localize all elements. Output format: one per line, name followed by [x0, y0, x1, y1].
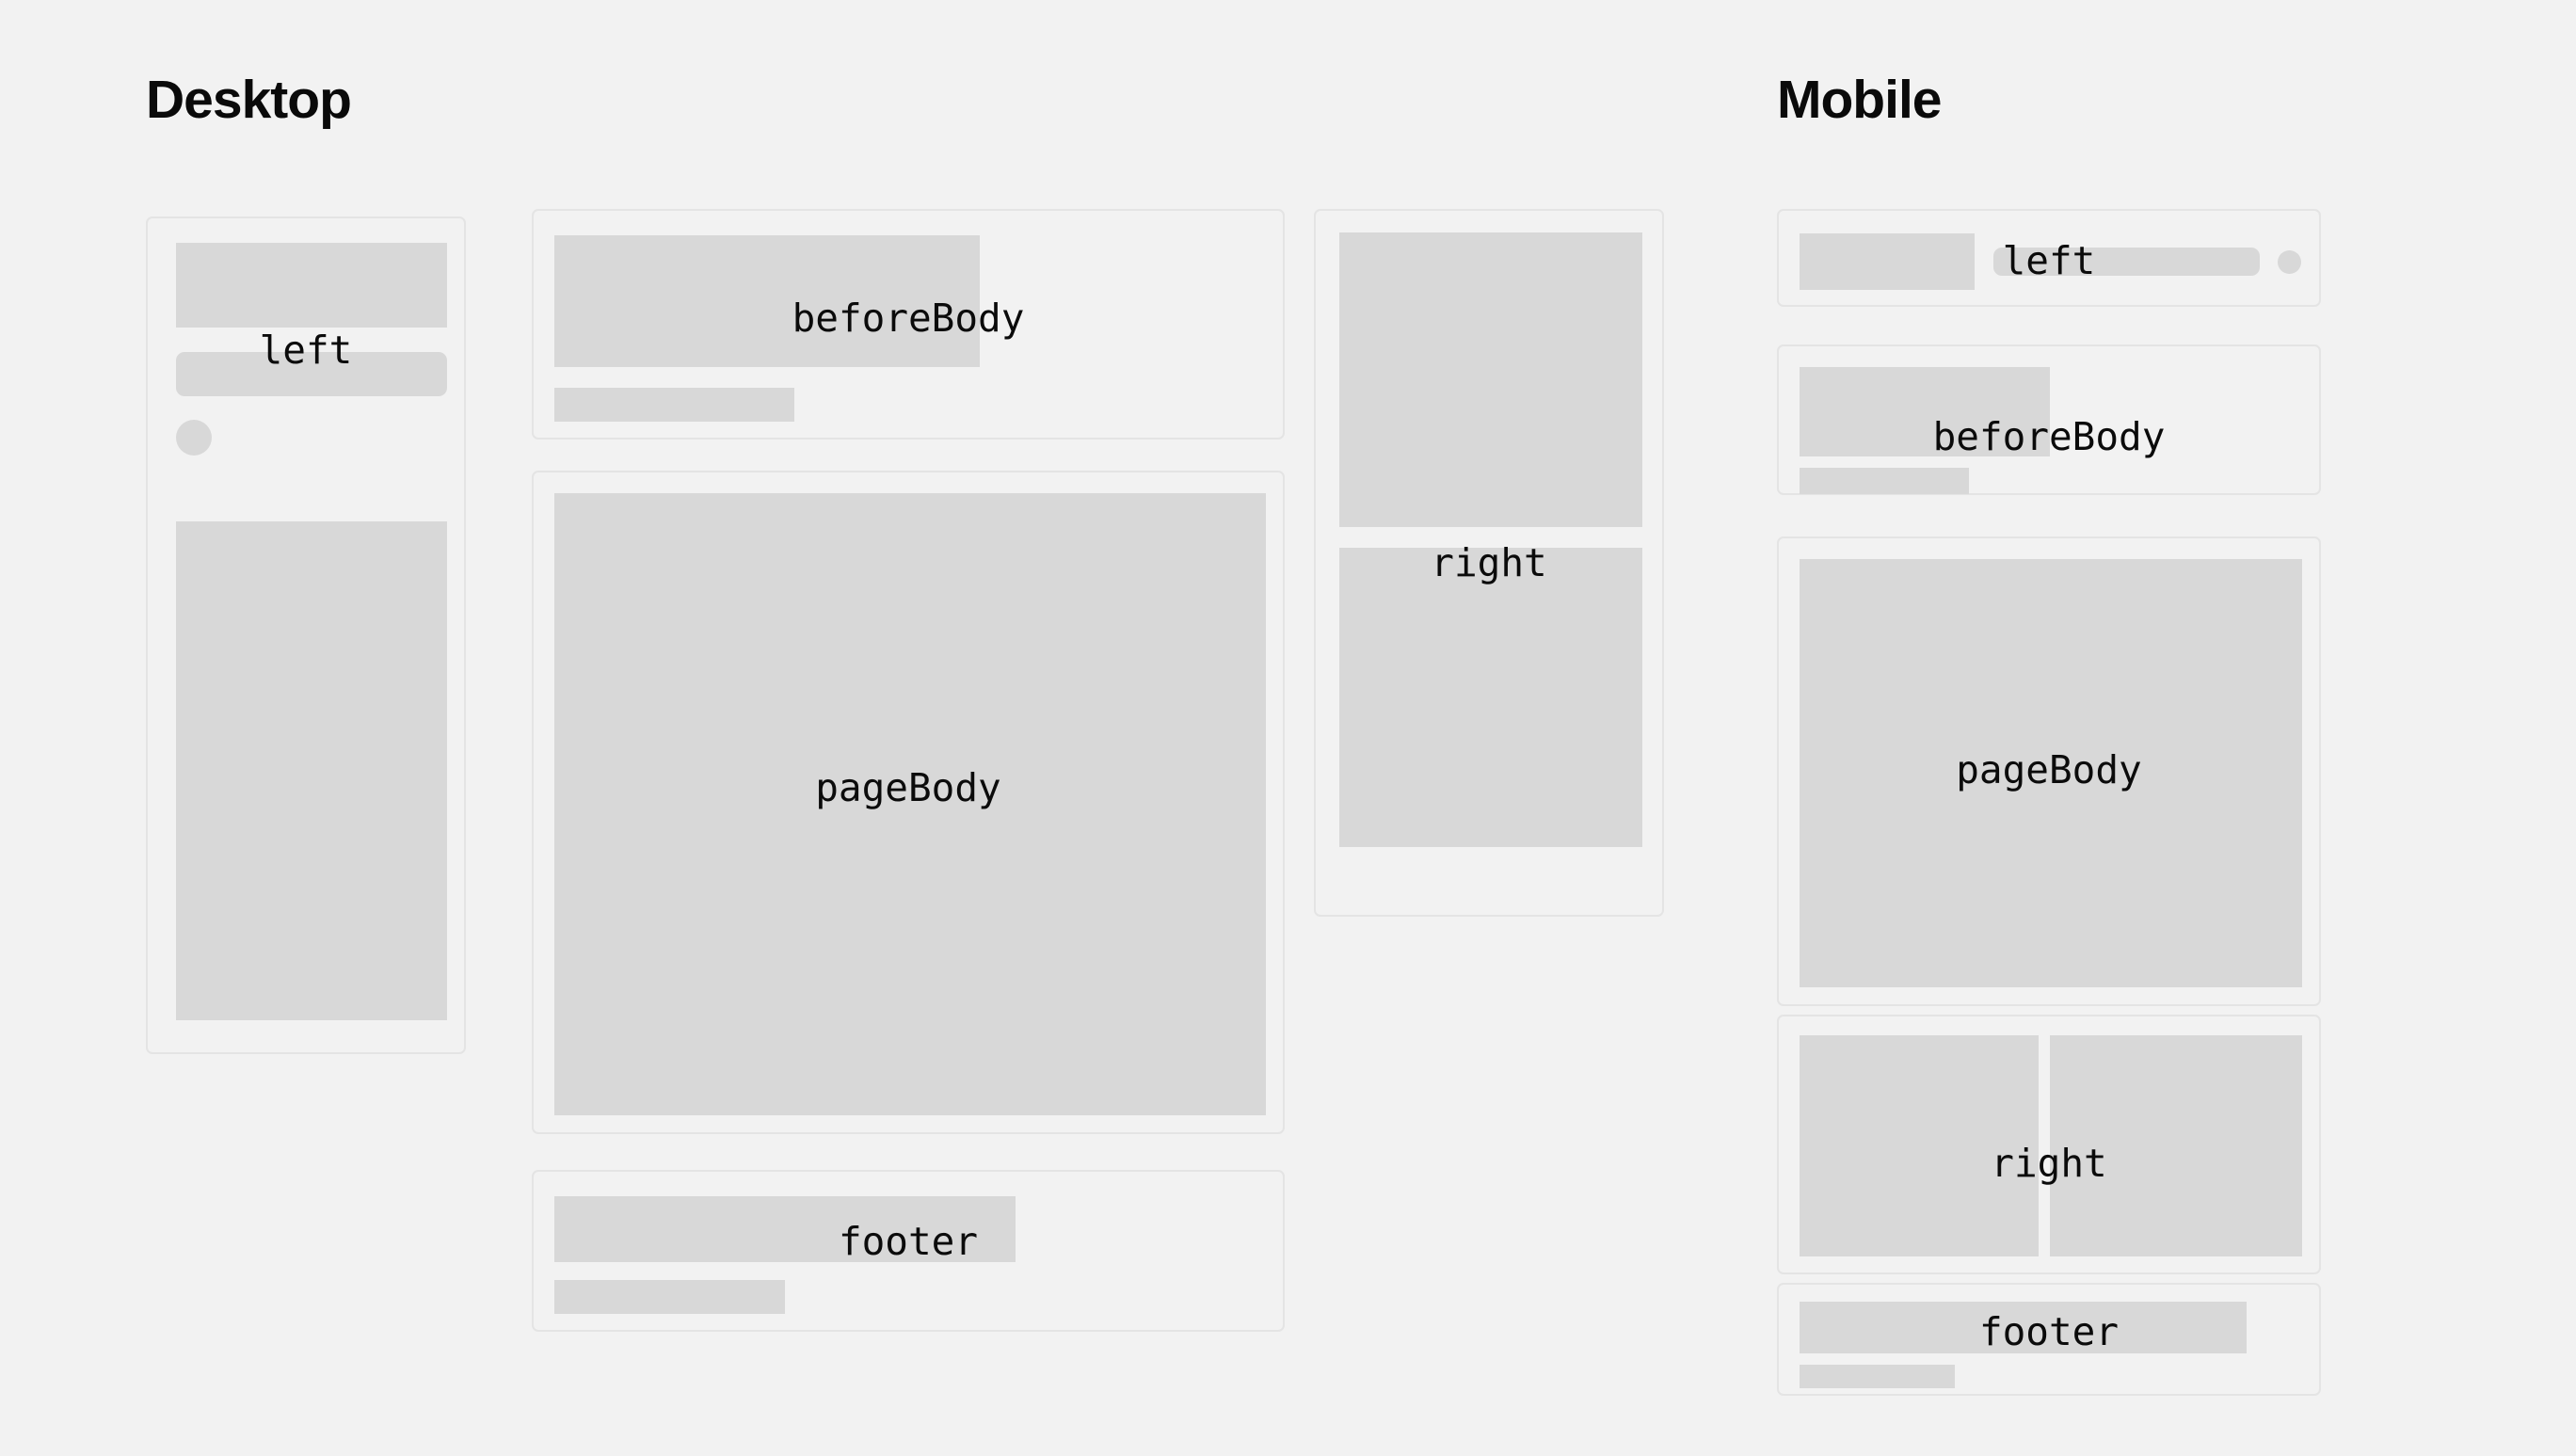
- mobile-panel-footer[interactable]: [1777, 1283, 2321, 1396]
- desktop-footer-hero-block: [554, 1196, 1016, 1262]
- desktop-beforebody-bar-block: [554, 388, 794, 422]
- desktop-panel-beforebody[interactable]: [532, 209, 1285, 440]
- mobile-left-avatar-block: [2278, 250, 2301, 274]
- desktop-beforebody-hero-block: [554, 235, 980, 367]
- desktop-panel-right[interactable]: [1314, 209, 1664, 917]
- desktop-left-main-block: [176, 521, 447, 1020]
- mobile-left-bar-block: [1993, 248, 2260, 276]
- desktop-right-top-block: [1339, 232, 1642, 527]
- desktop-panel-footer[interactable]: [532, 1170, 1285, 1332]
- mobile-beforebody-hero-block: [1800, 367, 2050, 456]
- mobile-beforebody-bar-block: [1800, 468, 1969, 494]
- mobile-panel-left[interactable]: [1777, 209, 2321, 307]
- mobile-right-right-block: [2050, 1035, 2302, 1256]
- desktop-right-bottom-block: [1339, 548, 1642, 847]
- mobile-panel-beforebody[interactable]: [1777, 344, 2321, 495]
- desktop-left-hero-block: [176, 243, 447, 328]
- desktop-left-bar-block: [176, 352, 447, 396]
- mobile-right-left-block: [1800, 1035, 2039, 1256]
- mobile-footer-bar-block: [1800, 1365, 1955, 1388]
- desktop-panel-pagebody[interactable]: [532, 471, 1285, 1134]
- mobile-footer-hero-block: [1800, 1302, 2247, 1353]
- layout-preview-canvas: Desktop Mobile left beforeBody pageBody …: [0, 0, 2576, 1456]
- desktop-pagebody-main-block: [554, 493, 1266, 1115]
- desktop-column-heading: Desktop: [146, 73, 351, 127]
- mobile-pagebody-main-block: [1800, 559, 2302, 987]
- mobile-left-hero-block: [1800, 233, 1975, 290]
- mobile-column-heading: Mobile: [1777, 73, 1942, 127]
- desktop-left-avatar-block: [176, 420, 212, 456]
- desktop-panel-left[interactable]: [146, 216, 466, 1054]
- desktop-footer-bar-block: [554, 1280, 785, 1314]
- mobile-panel-pagebody[interactable]: [1777, 536, 2321, 1006]
- mobile-panel-right[interactable]: [1777, 1015, 2321, 1274]
